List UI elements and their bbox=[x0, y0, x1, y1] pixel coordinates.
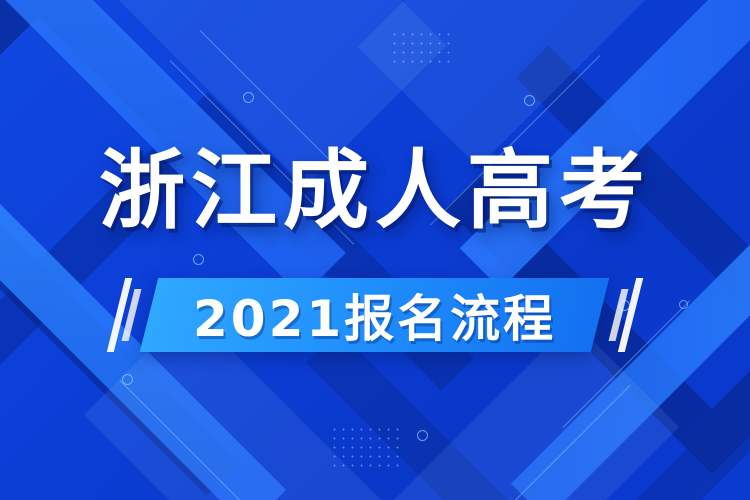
subtitle-ribbon: 2021报名流程 bbox=[140, 278, 610, 352]
banner-headline: 浙江成人高考 bbox=[99, 148, 651, 234]
banner-content: 浙江成人高考 2021报名流程 bbox=[0, 0, 750, 500]
promo-banner: 浙江成人高考 2021报名流程 bbox=[0, 0, 750, 500]
subtitle-ribbon-row: 2021报名流程 bbox=[116, 278, 633, 352]
ribbon-ticks-right bbox=[615, 278, 634, 352]
banner-subtitle: 2021报名流程 bbox=[193, 279, 556, 351]
ribbon-ticks-left bbox=[116, 278, 135, 352]
